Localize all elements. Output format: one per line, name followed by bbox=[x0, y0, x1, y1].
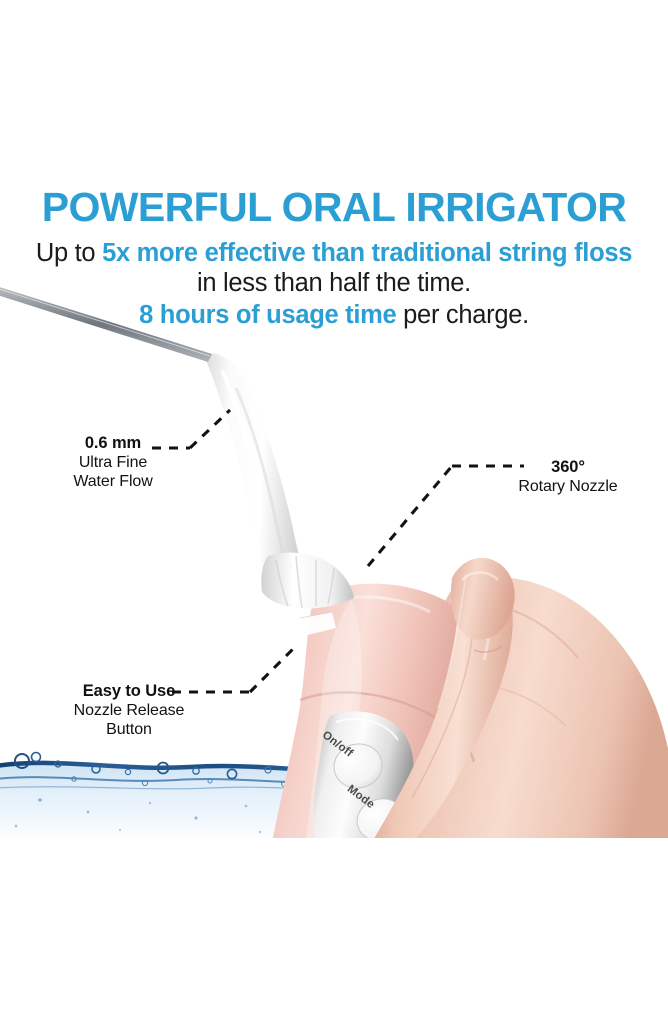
callout-06mm-sub-2: Water Flow bbox=[38, 472, 188, 491]
nozzle-collar bbox=[261, 553, 354, 609]
callout-easy-title: Easy to Use bbox=[34, 682, 224, 701]
callout-rotary-nozzle: 360° Rotary Nozzle bbox=[488, 458, 648, 496]
page-title: POWERFUL ORAL IRRIGATOR bbox=[0, 184, 668, 230]
callout-06mm-title: 0.6 mm bbox=[38, 434, 188, 453]
subheadline-line-2: in less than half the time. bbox=[0, 268, 668, 299]
leader-line-360-diagonal bbox=[368, 466, 452, 566]
leader-line-easy-diagonal bbox=[250, 648, 294, 692]
leader-line-06mm-diagonal bbox=[190, 410, 230, 448]
callout-360-sub-1: Rotary Nozzle bbox=[488, 477, 648, 496]
callout-ultra-fine-water-flow: 0.6 mm Ultra Fine Water Flow bbox=[38, 434, 188, 491]
callout-06mm-sub-1: Ultra Fine bbox=[38, 453, 188, 472]
subheadline-highlight-battery: 8 hours of usage time bbox=[139, 301, 396, 329]
subheadline-tail: per charge. bbox=[396, 301, 528, 329]
subheadline-lead: Up to bbox=[36, 239, 102, 267]
subheadline-line-2-text: in less than half the time. bbox=[197, 269, 471, 297]
product-infographic: On/off Mode POWERFUL ORAL IRRIGATOR Up t… bbox=[0, 0, 668, 1024]
callout-easy-sub-2: Button bbox=[34, 720, 224, 739]
callout-easy-sub-1: Nozzle Release bbox=[34, 701, 224, 720]
subheadline-highlight-effectiveness: 5x more effective than traditional strin… bbox=[102, 239, 632, 267]
callout-nozzle-release-button: Easy to Use Nozzle Release Button bbox=[34, 682, 224, 739]
callout-360-title: 360° bbox=[488, 458, 648, 477]
subheadline-line-3: 8 hours of usage time per charge. bbox=[0, 300, 668, 331]
subheadline-line-1: Up to 5x more effective than traditional… bbox=[0, 238, 668, 269]
